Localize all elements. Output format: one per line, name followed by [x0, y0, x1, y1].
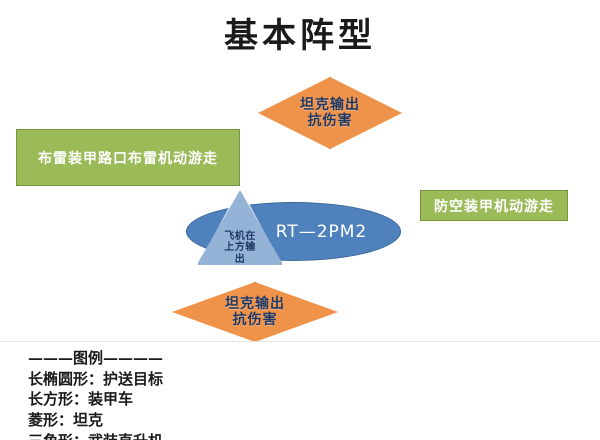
legend: ———图例———— 长椭圆形：护送目标 长方形：装甲车 菱形：坦克 三角形：武装…: [28, 348, 163, 440]
legend-row-ellipse: 长椭圆形：护送目标: [28, 369, 163, 390]
rect-left-label: 布雷装甲路口布雷机动游走: [38, 148, 218, 168]
diamond-shape-tank-bottom[interactable]: 坦克输出 抗伤害: [172, 282, 338, 342]
triangle-shape-helicopter[interactable]: 飞机在 上方输 出: [198, 187, 282, 265]
legend-heading: ———图例————: [28, 348, 163, 369]
rect-shape-armor-left[interactable]: 布雷装甲路口布雷机动游走: [16, 129, 240, 186]
legend-row-triangle: 三角形：武装直升机: [28, 431, 163, 440]
slide-canvas: 基本阵型 坦克输出 抗伤害 坦克输出 抗伤害 布雷装甲路口布雷机动游走 防空装甲…: [0, 0, 600, 440]
triangle-outline: [198, 187, 282, 265]
diamond-bottom-face: [172, 282, 338, 342]
legend-row-rectangle: 长方形：装甲车: [28, 389, 163, 410]
rect-shape-armor-right[interactable]: 防空装甲机动游走: [420, 190, 568, 221]
diamond-shape-tank-top[interactable]: 坦克输出 抗伤害: [258, 77, 402, 149]
rect-right-label: 防空装甲机动游走: [434, 196, 554, 216]
horizontal-divider: [0, 341, 600, 342]
page-title: 基本阵型: [0, 8, 600, 57]
diamond-top-face: [258, 77, 402, 149]
legend-row-diamond: 菱形：坦克: [28, 410, 163, 431]
